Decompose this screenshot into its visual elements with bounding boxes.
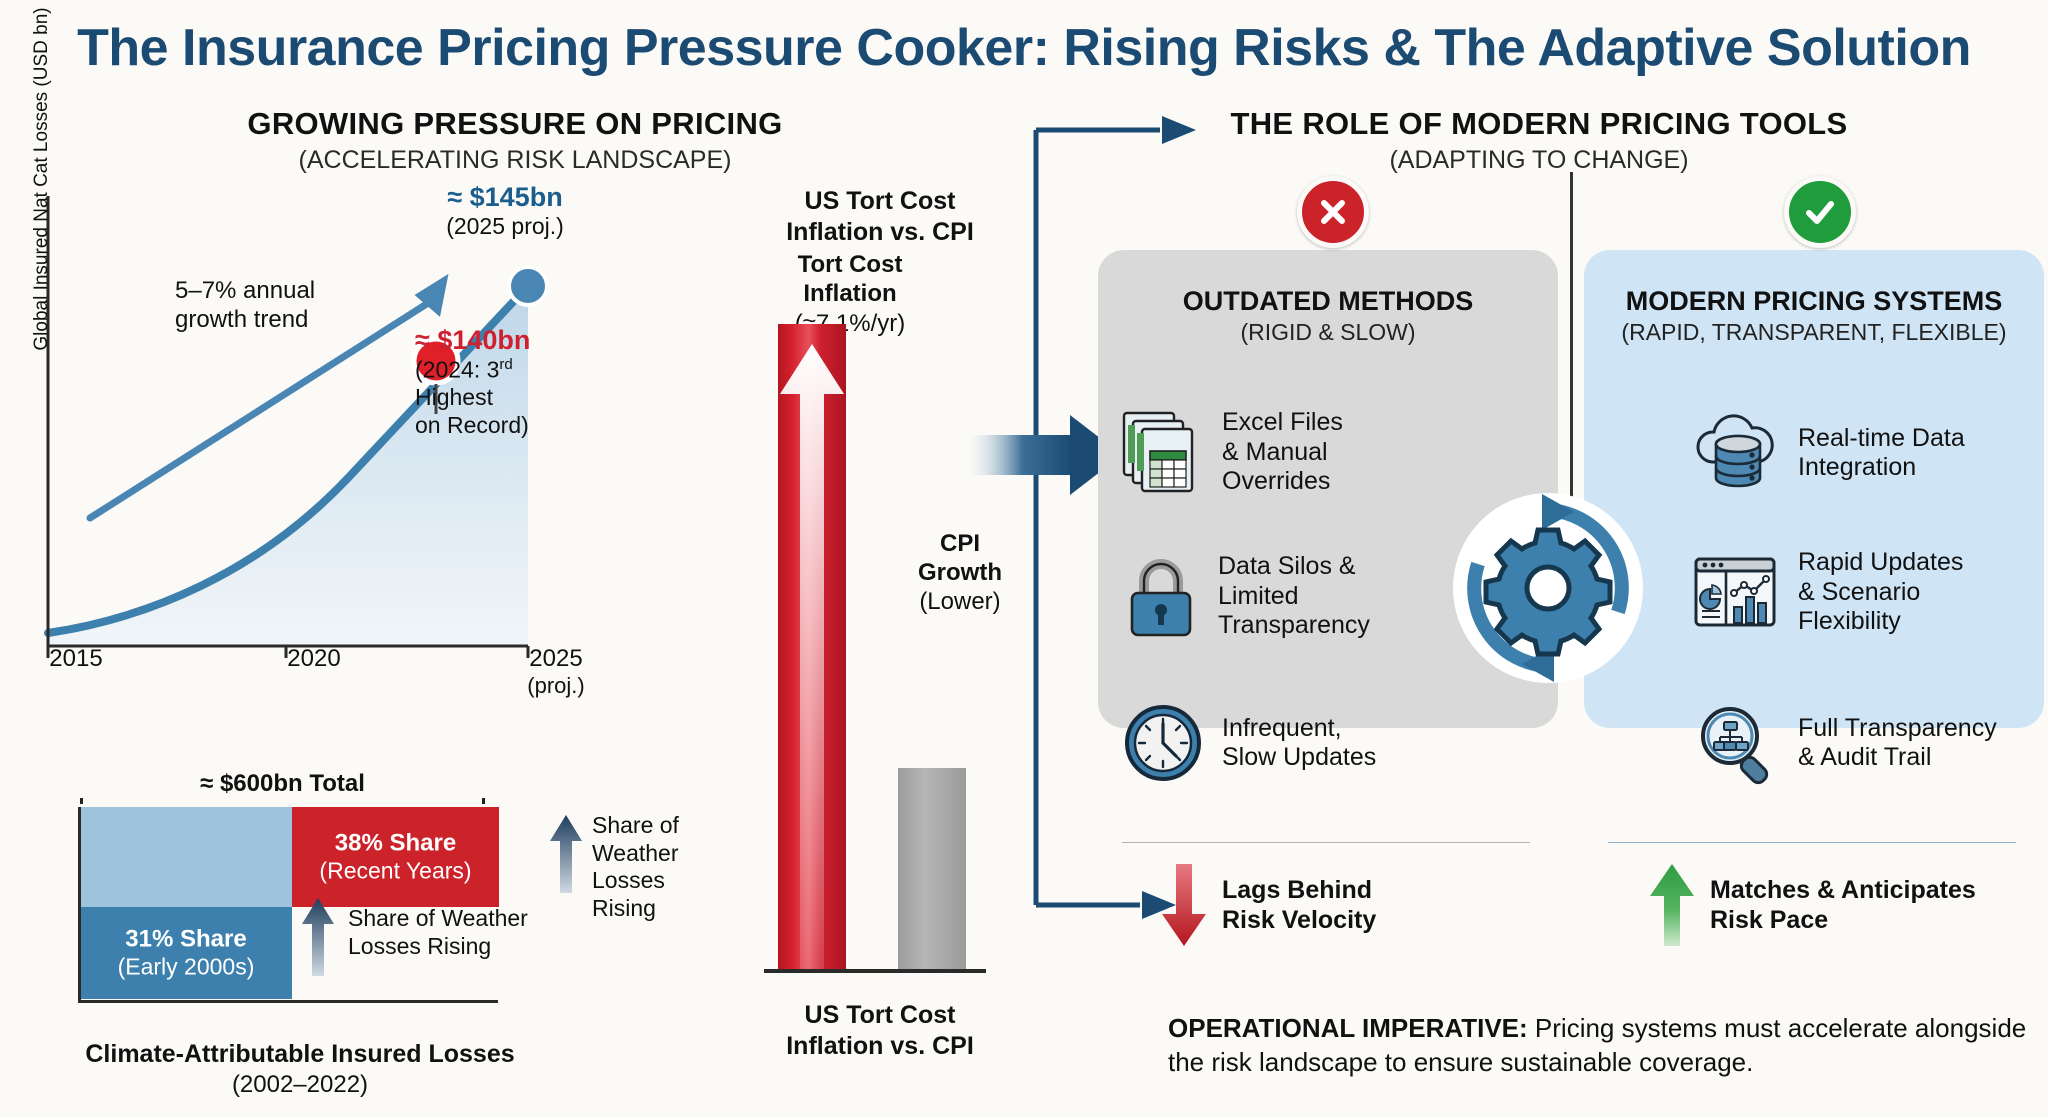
outdated-excel-line1: Excel Files bbox=[1222, 408, 1343, 436]
annotation-2024-record: ≈ $140bn (2024: 3rd Highest on Record) bbox=[415, 325, 595, 439]
x-axis-tick-labels: 2015 2020 2025 (proj.) bbox=[28, 645, 728, 715]
outer-rising-annotation: Share of Weather Losses Rising bbox=[592, 812, 679, 922]
check-mark-icon bbox=[1784, 176, 1856, 248]
outdated-footer-text: Lags Behind Risk Velocity bbox=[1222, 875, 1376, 935]
outdated-feature-excel: Excel Files & Manual Overrides bbox=[1120, 408, 1450, 497]
stack-y-axis bbox=[78, 807, 81, 1003]
annotation-2025-value: ≈ $145bn bbox=[420, 182, 590, 213]
inner-rising-annotation: Share of Weather Losses Rising bbox=[348, 905, 528, 960]
modern-rapid-line3: Flexibility bbox=[1798, 607, 1901, 635]
up-arrow-icon bbox=[1648, 862, 1696, 948]
outdated-heading-text: OUTDATED METHODS bbox=[1098, 286, 1558, 317]
outdated-panel-footer: Lags Behind Risk Velocity bbox=[1160, 862, 1376, 948]
stack-x-axis bbox=[78, 1000, 498, 1003]
gear-cycle-icon bbox=[1448, 488, 1648, 688]
outdated-subheading-text: (RIGID & SLOW) bbox=[1098, 319, 1558, 346]
operational-imperative-note: OPERATIONAL IMPERATIVE: Pricing systems … bbox=[1168, 1012, 2028, 1080]
inner-rising-line1: Share of Weather bbox=[348, 905, 528, 933]
stack-early-label: 31% Share (Early 2000s) bbox=[80, 926, 292, 981]
cpi-label-line2: Growth bbox=[905, 559, 1015, 588]
growth-trend-arrow-head bbox=[415, 274, 466, 322]
tort-chart-caption: US Tort Cost Inflation vs. CPI bbox=[745, 1000, 1015, 1063]
modern-footer-text: Matches & Anticipates Risk Pace bbox=[1710, 875, 1976, 935]
padlock-icon bbox=[1120, 553, 1202, 639]
cpi-growth-bar bbox=[898, 768, 966, 970]
left-section-heading: GROWING PRESSURE ON PRICING (ACCELERATIN… bbox=[0, 106, 1030, 175]
x-tick-label-2025-year: 2025 bbox=[529, 645, 582, 672]
cloud-database-icon bbox=[1690, 410, 1782, 496]
modern-heading-text: MODERN PRICING SYSTEMS bbox=[1584, 286, 2044, 317]
outdated-footer-line1: Lags Behind bbox=[1222, 876, 1372, 904]
climate-losses-stacked-chart: 38% Share (Recent Years) 31% Share (Earl… bbox=[65, 765, 535, 1015]
modern-realtime-line2: Integration bbox=[1798, 453, 1916, 481]
x-tick-label-2025: 2025 (proj.) bbox=[506, 645, 606, 699]
outdated-feature-updates-text: Infrequent, Slow Updates bbox=[1222, 714, 1376, 773]
annotation-2024-sub-c: on Record) bbox=[415, 412, 529, 438]
outdated-feature-updates: Infrequent, Slow Updates bbox=[1120, 700, 1460, 786]
outdated-feature-silos: Data Silos & Limited Transparency bbox=[1120, 552, 1460, 641]
modern-panel-divider bbox=[1608, 842, 2016, 843]
gear-shape bbox=[1486, 530, 1610, 654]
outdated-feature-excel-text: Excel Files & Manual Overrides bbox=[1222, 408, 1343, 497]
stacked-caption-line1: Climate-Attributable Insured Losses bbox=[35, 1040, 565, 1069]
left-heading-text: GROWING PRESSURE ON PRICING bbox=[0, 106, 1030, 142]
stack-cell-upper-left bbox=[80, 807, 292, 907]
annotation-2024-value: ≈ $140bn bbox=[415, 325, 595, 356]
outdated-silos-line1: Data Silos & bbox=[1218, 552, 1356, 580]
outdated-excel-line3: Overrides bbox=[1222, 467, 1330, 495]
stack-recent-pct: 38% Share bbox=[292, 830, 499, 858]
modern-panel-heading: MODERN PRICING SYSTEMS (RAPID, TRANSPARE… bbox=[1584, 286, 2044, 346]
outdated-panel-divider bbox=[1122, 842, 1530, 843]
outer-rising-line3: Losses bbox=[592, 867, 679, 895]
modern-feature-realtime: Real-time Data Integration bbox=[1690, 410, 2048, 496]
growth-trend-annotation: 5–7% annual growth trend bbox=[175, 276, 315, 335]
annotation-2024-sub-a: (2024: 3 bbox=[415, 357, 499, 383]
stacked-chart-total-label: ≈ $600bn Total bbox=[65, 770, 500, 798]
growth-trend-line2: growth trend bbox=[175, 305, 315, 334]
left-subheading-text: (ACCELERATING RISK LANDSCAPE) bbox=[0, 146, 1030, 175]
page-title: The Insurance Pricing Pressure Cooker: R… bbox=[0, 18, 2048, 78]
outdated-updates-line1: Infrequent, bbox=[1222, 714, 1342, 742]
annotation-2024-sub: (2024: 3rd Highest on Record) bbox=[415, 356, 595, 439]
dashboard-chart-icon bbox=[1690, 549, 1782, 635]
modern-realtime-line1: Real-time Data bbox=[1798, 424, 1965, 452]
clock-icon bbox=[1120, 700, 1206, 786]
outdated-panel-heading: OUTDATED METHODS (RIGID & SLOW) bbox=[1098, 286, 1558, 346]
outdated-silos-line2: Limited bbox=[1218, 582, 1299, 610]
modern-feature-realtime-text: Real-time Data Integration bbox=[1798, 424, 1965, 483]
annotation-2024-ordinal: rd bbox=[499, 356, 512, 373]
modern-footer-line1: Matches & Anticipates bbox=[1710, 876, 1976, 904]
annotation-2025-sub: (2025 proj.) bbox=[420, 213, 590, 240]
tort-caption-line1: US Tort Cost bbox=[745, 1000, 1015, 1031]
stack-early-pct: 31% Share bbox=[80, 926, 292, 954]
x-mark-icon bbox=[1297, 176, 1369, 248]
stack-recent-sub: (Recent Years) bbox=[292, 858, 499, 885]
modern-transparency-line2: & Audit Trail bbox=[1798, 743, 1931, 771]
infographic-canvas: The Insurance Pricing Pressure Cooker: R… bbox=[0, 0, 2048, 1117]
excel-files-icon bbox=[1120, 409, 1206, 495]
data-point-2025 bbox=[509, 267, 547, 305]
modern-rapid-line1: Rapid Updates bbox=[1798, 548, 1963, 576]
stack-early-sub: (Early 2000s) bbox=[80, 954, 292, 981]
x-tick-label-2025-proj: (proj.) bbox=[506, 673, 606, 699]
cpi-label-line1: CPI bbox=[905, 530, 1015, 559]
outer-rising-line4: Rising bbox=[592, 895, 679, 923]
modern-rapid-line2: & Scenario bbox=[1798, 578, 1920, 606]
cpi-label-line3: (Lower) bbox=[905, 588, 1015, 617]
modern-subheading-text: (RAPID, TRANSPARENT, FLEXIBLE) bbox=[1584, 319, 2044, 346]
stacked-caption-line2: (2002–2022) bbox=[35, 1071, 565, 1099]
stack-cell-early-2000s: 31% Share (Early 2000s) bbox=[80, 907, 292, 999]
cpi-bar-label: CPI Growth (Lower) bbox=[905, 530, 1015, 616]
magnifier-hierarchy-icon bbox=[1690, 700, 1782, 786]
growth-trend-line1: 5–7% annual bbox=[175, 276, 315, 305]
down-arrow-icon bbox=[1160, 862, 1208, 948]
modern-feature-rapid-text: Rapid Updates & Scenario Flexibility bbox=[1798, 548, 1963, 637]
inner-rising-arrow-icon bbox=[300, 898, 336, 976]
connector-top-arrowhead bbox=[1162, 116, 1196, 144]
outdated-updates-line2: Slow Updates bbox=[1222, 743, 1376, 771]
tort-caption-line2: Inflation vs. CPI bbox=[745, 1031, 1015, 1062]
outer-rising-line2: Weather bbox=[592, 840, 679, 868]
outer-rising-line1: Share of bbox=[592, 812, 679, 840]
stacked-chart-caption: Climate-Attributable Insured Losses (200… bbox=[35, 1040, 565, 1099]
modern-transparency-line1: Full Transparency bbox=[1798, 714, 1997, 742]
stack-recent-label: 38% Share (Recent Years) bbox=[292, 830, 499, 885]
y-axis-label: Global Insured Nat Cat Losses (USD bn) bbox=[31, 0, 53, 369]
outdated-footer-line2: Risk Velocity bbox=[1222, 906, 1376, 934]
inner-rising-line2: Losses Rising bbox=[348, 933, 528, 961]
modern-panel-footer: Matches & Anticipates Risk Pace bbox=[1648, 862, 1976, 948]
modern-feature-transparency-text: Full Transparency & Audit Trail bbox=[1798, 714, 1997, 773]
x-tick-label-2020: 2020 bbox=[264, 645, 364, 673]
annotation-2025-projection: ≈ $145bn (2025 proj.) bbox=[420, 182, 590, 240]
stack-cell-recent-years: 38% Share (Recent Years) bbox=[292, 807, 499, 907]
outdated-excel-line2: & Manual bbox=[1222, 438, 1328, 466]
outdated-silos-line3: Transparency bbox=[1218, 611, 1370, 639]
operational-note-label: OPERATIONAL IMPERATIVE: bbox=[1168, 1013, 1528, 1043]
outdated-feature-silos-text: Data Silos & Limited Transparency bbox=[1218, 552, 1370, 641]
modern-feature-transparency: Full Transparency & Audit Trail bbox=[1690, 700, 2048, 786]
modern-footer-line2: Risk Pace bbox=[1710, 906, 1828, 934]
outer-rising-arrow-icon bbox=[548, 815, 584, 893]
x-tick-label-2015: 2015 bbox=[26, 645, 126, 673]
modern-feature-rapid: Rapid Updates & Scenario Flexibility bbox=[1690, 548, 2048, 637]
annotation-2024-sub-b: Highest bbox=[415, 384, 493, 410]
